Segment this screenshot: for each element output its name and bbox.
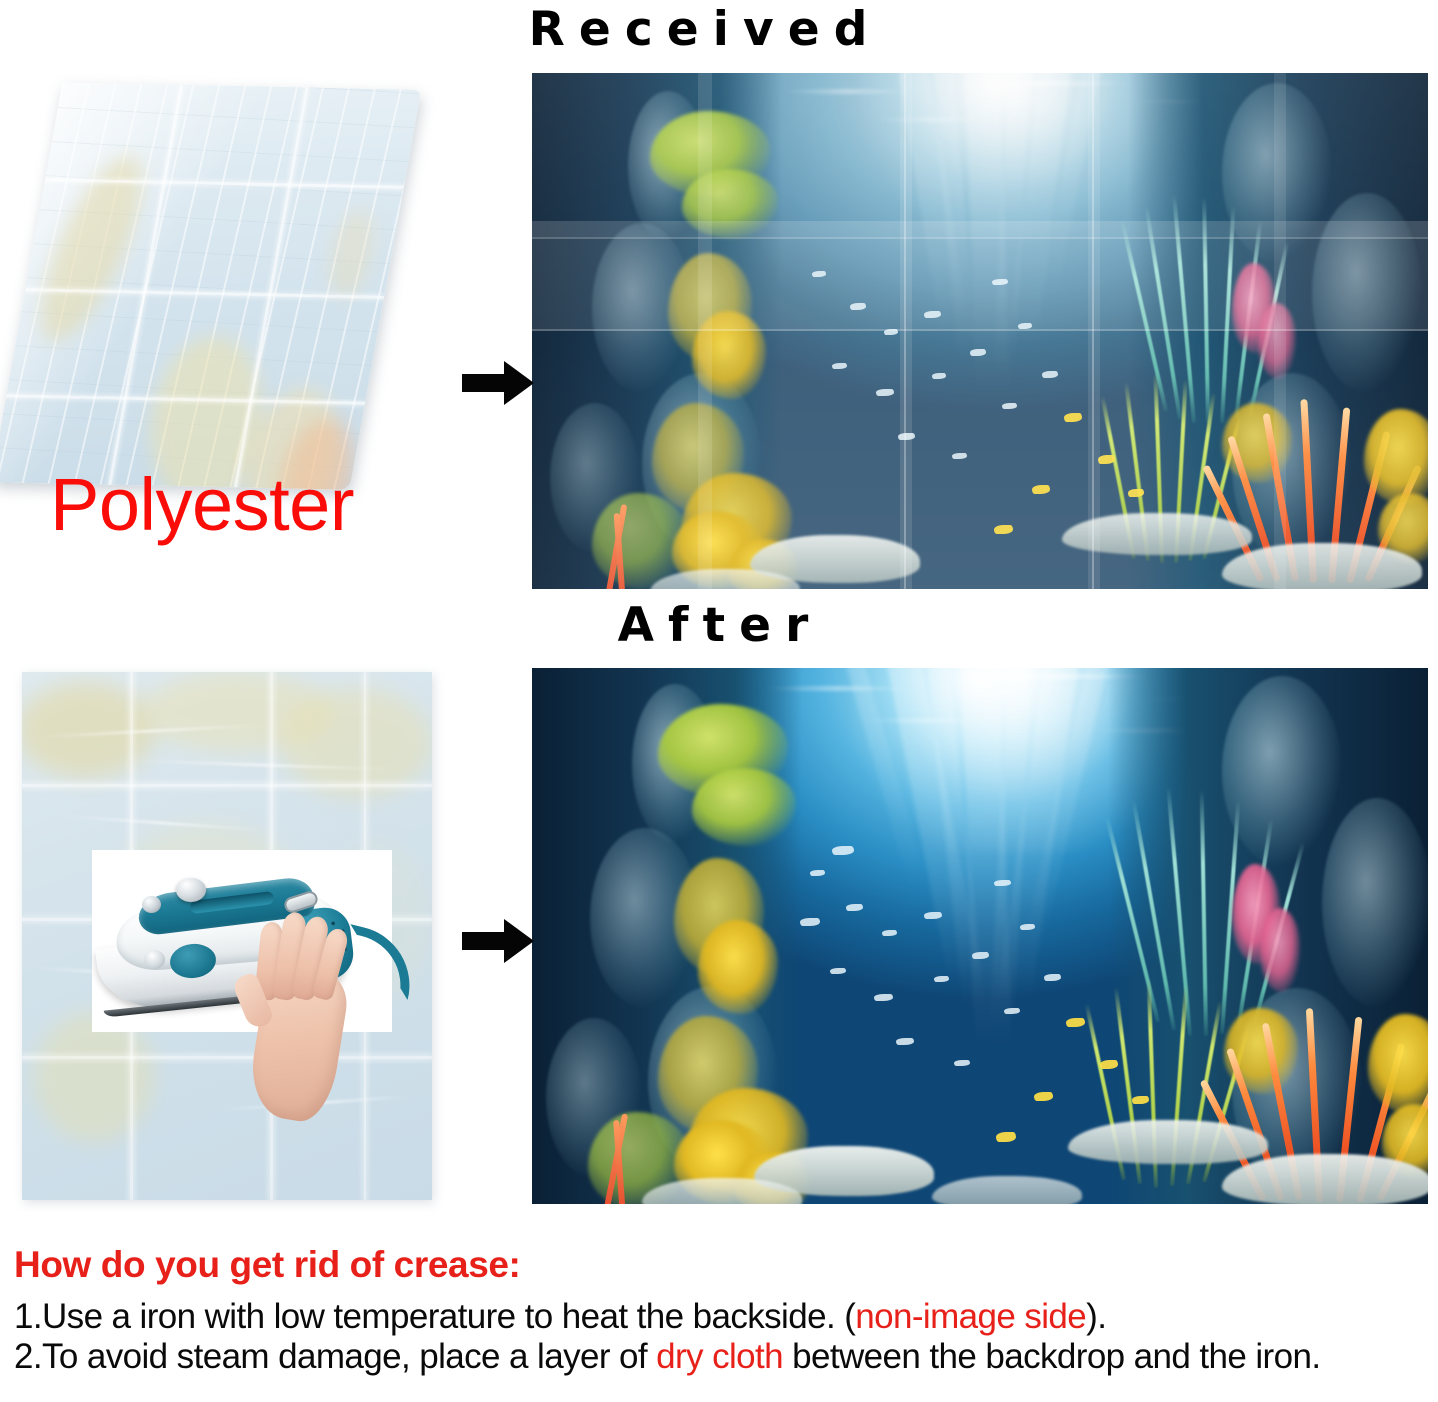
- arrow-right-icon: [462, 918, 534, 964]
- fish: [846, 904, 863, 911]
- fish: [1018, 323, 1032, 329]
- fish: [954, 1060, 970, 1066]
- print-bleed: [282, 688, 432, 798]
- pink-coral: [1260, 908, 1300, 992]
- algae-patch: [692, 768, 796, 846]
- fabric-print-bleed: [324, 209, 380, 300]
- instruction-2-highlight: dry cloth: [656, 1337, 783, 1376]
- fish: [1004, 1008, 1020, 1014]
- fish: [992, 279, 1008, 285]
- instruction-1-part1: 1.Use a iron with low temperature to hea…: [14, 1297, 855, 1336]
- sand-rock: [1222, 543, 1422, 589]
- fabric-swatch-photo: [18, 82, 438, 502]
- fish: [884, 329, 898, 335]
- rock-texture: [1312, 193, 1422, 393]
- fish-gold: [1128, 489, 1144, 497]
- instruction-line-1: 1.Use a iron with low temperature to hea…: [14, 1297, 1434, 1337]
- iron-spray-button: [142, 896, 161, 913]
- instruction-line-2: 2.To avoid steam damage, place a layer o…: [14, 1337, 1434, 1377]
- fish: [896, 1038, 914, 1045]
- iron-steam-knob: [176, 878, 206, 902]
- instruction-2-part2: between the backdrop and the iron.: [783, 1337, 1320, 1376]
- section-title-received: Received: [455, 2, 955, 57]
- hand-icon: [236, 912, 348, 1122]
- surface-ripple: [952, 81, 1132, 86]
- fish: [932, 373, 946, 379]
- fish: [952, 453, 967, 459]
- algae-patch: [682, 169, 778, 239]
- crease-fold-line: [22, 1056, 432, 1059]
- fish-gold: [994, 525, 1013, 534]
- material-label-polyester: Polyester: [50, 462, 354, 547]
- folded-fabric-sheet: [0, 82, 421, 489]
- fish: [832, 363, 847, 369]
- pink-coral: [1258, 303, 1296, 379]
- fish-gold: [1100, 1060, 1118, 1069]
- fish: [994, 880, 1011, 886]
- clothing-iron-photo: [92, 850, 392, 1032]
- fish: [1042, 371, 1058, 378]
- sand-rock: [1222, 1154, 1428, 1204]
- fish: [972, 952, 989, 959]
- sand-rock: [1068, 1120, 1268, 1164]
- fish: [800, 918, 820, 926]
- fish: [924, 311, 941, 318]
- algae-patch: [692, 311, 766, 399]
- crease-fold-line: [22, 784, 432, 787]
- fish: [1020, 924, 1035, 930]
- fish: [810, 870, 825, 876]
- iron-dial-button: [144, 950, 165, 969]
- fish: [898, 433, 915, 440]
- fish: [970, 349, 986, 356]
- fish-gold: [1066, 1018, 1085, 1027]
- fish: [812, 271, 826, 277]
- fish-gold: [1032, 485, 1050, 494]
- rock-texture: [1322, 798, 1428, 1008]
- scene-after-backdrop: [532, 668, 1428, 1204]
- fish: [832, 846, 854, 855]
- fish: [924, 912, 942, 919]
- instruction-1-highlight: non-image side: [855, 1297, 1086, 1336]
- fish-gold: [996, 1132, 1016, 1142]
- instructions-heading: How do you get rid of crease:: [14, 1246, 1434, 1283]
- fish-gold: [1132, 1096, 1149, 1104]
- arrow-right-icon: [462, 360, 534, 406]
- fish: [934, 976, 949, 982]
- fish-gold: [1064, 413, 1082, 422]
- fish: [882, 930, 897, 936]
- scene-received-backdrop: [532, 73, 1428, 589]
- fish: [874, 994, 893, 1001]
- surface-ripple: [872, 117, 992, 122]
- fish: [1044, 974, 1061, 981]
- fish: [850, 303, 866, 310]
- instruction-2-part1: 2.To avoid steam damage, place a layer o…: [14, 1337, 656, 1376]
- algae-patch: [698, 920, 778, 1014]
- wrinkle: [62, 815, 262, 831]
- fish: [1002, 403, 1017, 409]
- fish-gold: [1098, 455, 1115, 464]
- fish: [830, 968, 846, 974]
- instruction-1-part2: ).: [1086, 1297, 1106, 1336]
- section-title-after: After: [500, 598, 940, 653]
- fish-gold: [1034, 1092, 1053, 1101]
- care-instructions: How do you get rid of crease: 1.Use a ir…: [14, 1246, 1434, 1377]
- sand-rock: [1062, 513, 1252, 555]
- fish: [876, 389, 894, 396]
- surface-ripple: [782, 89, 912, 94]
- surface-ripple: [862, 718, 992, 723]
